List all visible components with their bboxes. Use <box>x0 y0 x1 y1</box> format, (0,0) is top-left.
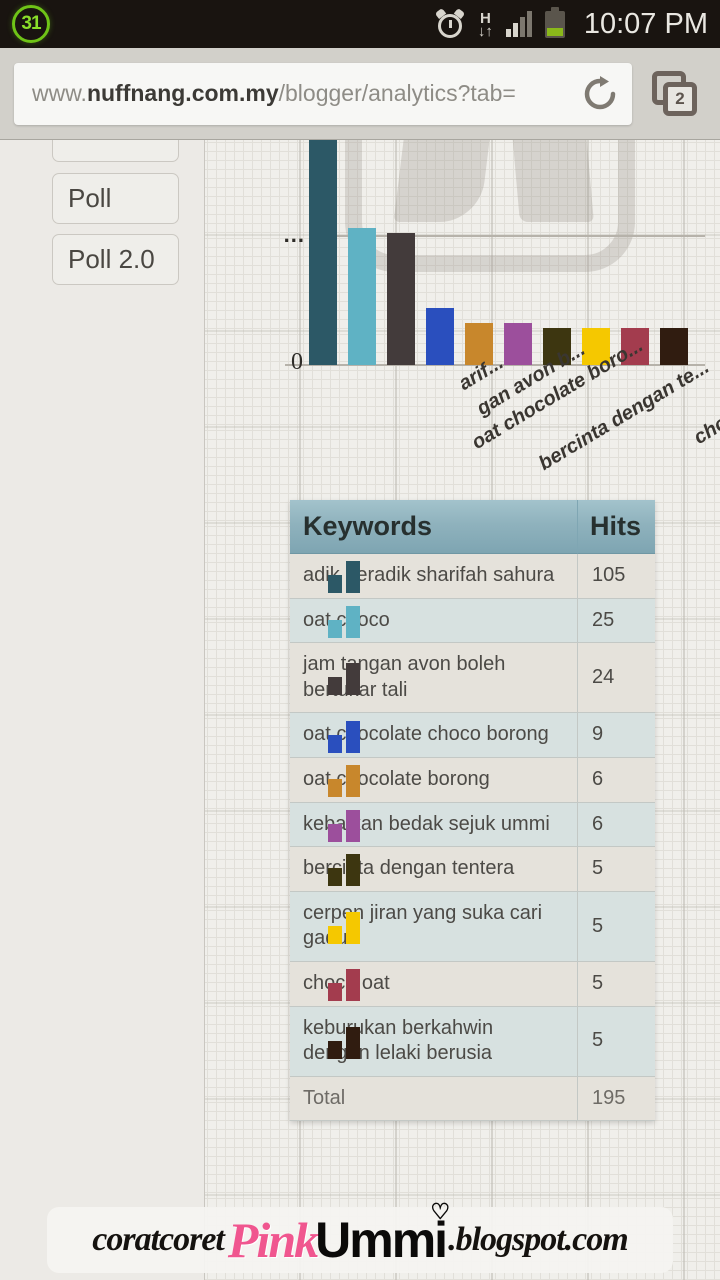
legend-color-chip <box>328 719 372 753</box>
heart-icon: ♡ <box>430 1199 448 1225</box>
alarm-clock-icon <box>435 9 465 39</box>
chart-bar[interactable] <box>426 308 454 365</box>
sidebar-item-poll-2[interactable]: Poll 2.0 <box>52 234 179 285</box>
watermark-text-1: coratcoret <box>92 1221 224 1259</box>
sidebar-item-label: Poll <box>68 183 111 214</box>
cell-hits: 5 <box>577 1007 655 1077</box>
chart-bar[interactable] <box>309 140 337 365</box>
watermark-text-domain: .blogspot.com <box>448 1221 628 1259</box>
site-watermark: coratcoret Pink Ummi ♡ .blogspot.com <box>0 1200 720 1280</box>
x-axis-tick-label: choco oat <box>690 381 720 449</box>
chart-bar[interactable] <box>348 228 376 365</box>
url-text: www.nuffnang.com.my/blogger/analytics?ta… <box>32 80 580 107</box>
cell-hits: 195 <box>577 1077 655 1122</box>
analytics-content: ... 0 arif...gan avon b...oat chocolate … <box>205 140 720 1280</box>
legend-color-chip <box>328 604 372 638</box>
tab-switcher-button[interactable]: 2 <box>644 63 706 125</box>
cell-hits: 24 <box>577 643 655 713</box>
chart-bars <box>309 140 709 365</box>
sidebar-item-poll[interactable]: Poll <box>52 173 179 224</box>
legend-color-chip <box>328 763 372 797</box>
chart-bar[interactable] <box>660 328 688 365</box>
legend-color-chip <box>328 1025 372 1059</box>
table-header-row: Keywords Hits <box>290 500 655 554</box>
cell-hits: 5 <box>577 892 655 962</box>
clock-label: 10:07 PM <box>584 8 708 41</box>
cell-hits: 105 <box>577 554 655 599</box>
url-path: /blogger/analytics?tab= <box>279 80 516 106</box>
watermark-text-pink: Pink <box>228 1211 317 1269</box>
column-header-hits[interactable]: Hits <box>577 500 655 554</box>
cell-hits: 5 <box>577 962 655 1007</box>
keywords-table-wrap: Keywords Hits adik beradik sharifah sahu… <box>290 500 655 1121</box>
status-bar: 31 H ↓↑ 10:07 PM <box>0 0 720 48</box>
tab-count-label: 2 <box>663 82 697 116</box>
page-viewport: Poll Poll 2.0 ... 0 arif...gan avon b...… <box>0 140 720 1280</box>
url-input[interactable]: www.nuffnang.com.my/blogger/analytics?ta… <box>14 63 632 125</box>
legend-color-chip <box>328 967 372 1001</box>
sidebar-item-cutoff[interactable] <box>52 140 179 162</box>
status-bar-icons: H ↓↑ 10:07 PM <box>435 8 708 41</box>
hspa-data-icon: H ↓↑ <box>478 11 493 37</box>
chart-bar[interactable] <box>387 233 415 365</box>
watermark-ummi-label: Ummi <box>315 1212 446 1268</box>
legend-color-chip <box>328 808 372 842</box>
chart-bar[interactable] <box>504 323 532 365</box>
sidebar-item-label: Poll 2.0 <box>68 244 155 275</box>
url-domain: nuffnang.com.my <box>87 80 279 106</box>
cell-hits: 6 <box>577 803 655 848</box>
url-prefix: www. <box>32 80 87 106</box>
cell-hits: 25 <box>577 599 655 644</box>
cell-hits: 6 <box>577 758 655 803</box>
cell-keyword: Total <box>290 1077 577 1122</box>
signal-bars-icon <box>506 11 532 37</box>
chart-x-axis-labels: arif...gan avon b...oat chocolate boro..… <box>205 368 720 488</box>
legend-color-chip <box>328 661 372 695</box>
y-axis-tick-break: ... <box>271 222 305 248</box>
reload-icon[interactable] <box>580 74 620 114</box>
table-row[interactable]: Total195 <box>290 1077 655 1122</box>
cell-hits: 9 <box>577 713 655 758</box>
watermark-text-ummi: Ummi ♡ <box>315 1211 446 1269</box>
legend-color-chip <box>328 852 372 886</box>
cell-hits: 5 <box>577 847 655 892</box>
legend-color-chip <box>328 910 372 944</box>
calendar-badge-icon: 31 <box>12 5 50 43</box>
battery-icon <box>545 11 565 38</box>
keywords-bar-chart: ... 0 arif...gan avon b...oat chocolate … <box>205 140 720 390</box>
legend-color-chip <box>328 559 372 593</box>
browser-toolbar: www.nuffnang.com.my/blogger/analytics?ta… <box>0 48 720 140</box>
watermark-plate: coratcoret Pink Ummi ♡ .blogspot.com <box>47 1207 673 1273</box>
sidebar: Poll Poll 2.0 <box>0 140 205 1280</box>
column-header-keywords[interactable]: Keywords <box>290 500 577 554</box>
